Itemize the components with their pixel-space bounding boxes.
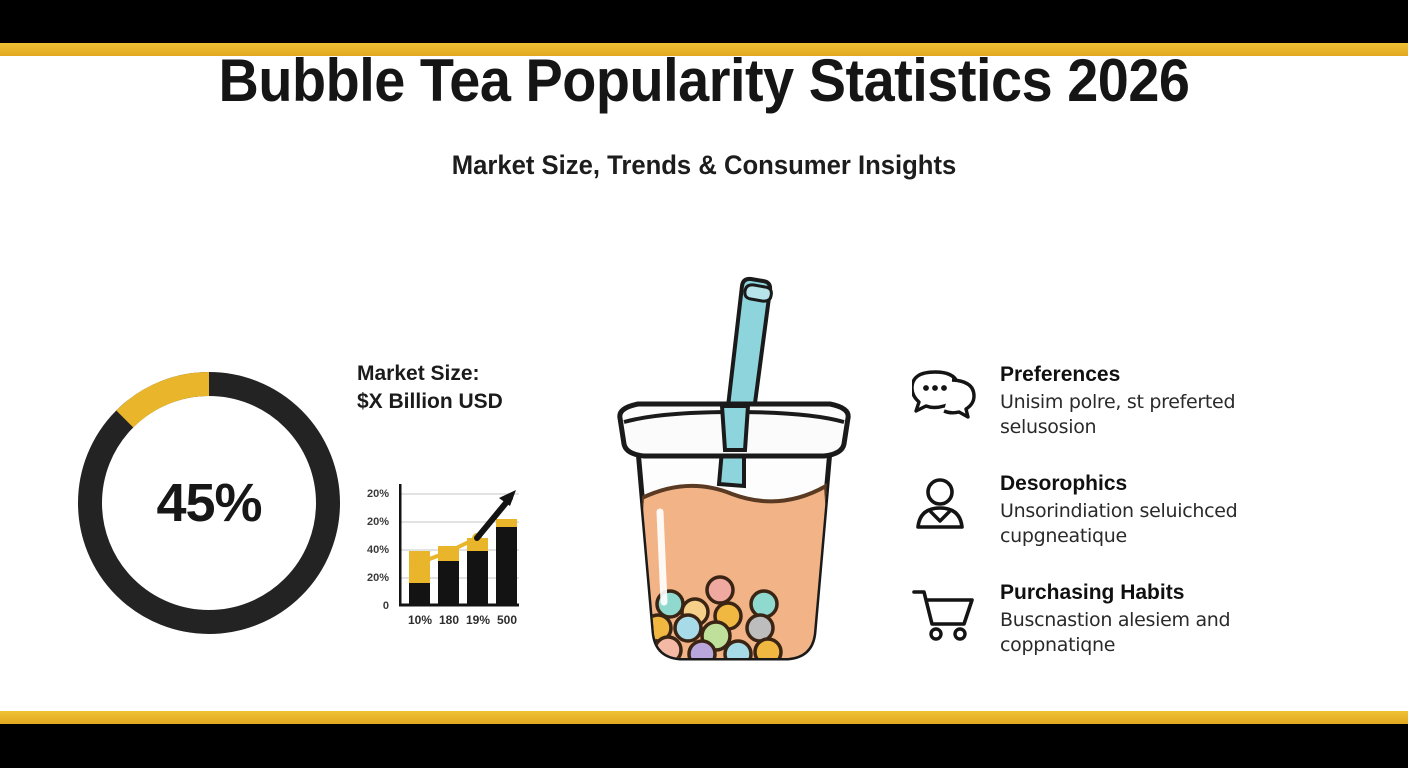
market-size-line1: Market Size: [357, 360, 587, 388]
person-icon [912, 475, 984, 535]
bottom-gold-rule [0, 711, 1408, 724]
bubble-tea-cup-illustration [598, 272, 870, 668]
list-item[interactable]: Preferences Unisim polre, st preferted s… [912, 362, 1312, 462]
y-tick-1: 20% [353, 516, 389, 528]
straw-lid-segment [722, 406, 748, 450]
infographic-poster: Bubble Tea Popularity Statistics 2026 Ma… [0, 0, 1408, 768]
market-size-caption: Market Size: $X Billion USD [357, 360, 587, 415]
donut-center-label: 45% [78, 372, 340, 634]
page-subtitle: Market Size, Trends & Consumer Insights [35, 150, 1373, 181]
list-item-title: Preferences [1000, 362, 1312, 387]
y-tick-4: 0 [353, 600, 389, 612]
growth-mini-chart: 20% 20% 40% 20% 0 [357, 470, 557, 635]
shopping-cart-icon [912, 584, 984, 644]
y-tick-2: 40% [353, 544, 389, 556]
y-tick-0: 20% [353, 488, 389, 500]
list-item-title: Desorophics [1000, 471, 1312, 496]
top-black-band [0, 0, 1408, 43]
list-item[interactable]: Desorophics Unsorindiation seluichced cu… [912, 471, 1312, 571]
speech-bubbles-icon [912, 366, 984, 426]
list-item-body: Unsorindiation seluichced cupgneatique [1000, 499, 1312, 548]
insights-list: Preferences Unisim polre, st preferted s… [912, 362, 1312, 689]
donut-chart: 45% [78, 372, 340, 634]
y-tick-3: 20% [353, 572, 389, 584]
bottom-black-band [0, 724, 1408, 768]
list-item-body: Buscnastion alesiem and coppnatiqne [1000, 608, 1312, 657]
x-tick-3: 500 [497, 613, 517, 627]
market-size-line2: $X Billion USD [357, 388, 587, 416]
list-item-body: Unisim polre, st preferted selusosion [1000, 390, 1312, 439]
list-item[interactable]: Purchasing Habits Buscnastion alesiem an… [912, 580, 1312, 680]
x-tick-0: 10% [408, 613, 432, 627]
list-item-title: Purchasing Habits [1000, 580, 1312, 605]
x-tick-2: 19% [466, 613, 490, 627]
tea-liquid [630, 486, 838, 668]
page-title: Bubble Tea Popularity Statistics 2026 [49, 46, 1358, 115]
x-tick-1: 180 [439, 613, 459, 627]
